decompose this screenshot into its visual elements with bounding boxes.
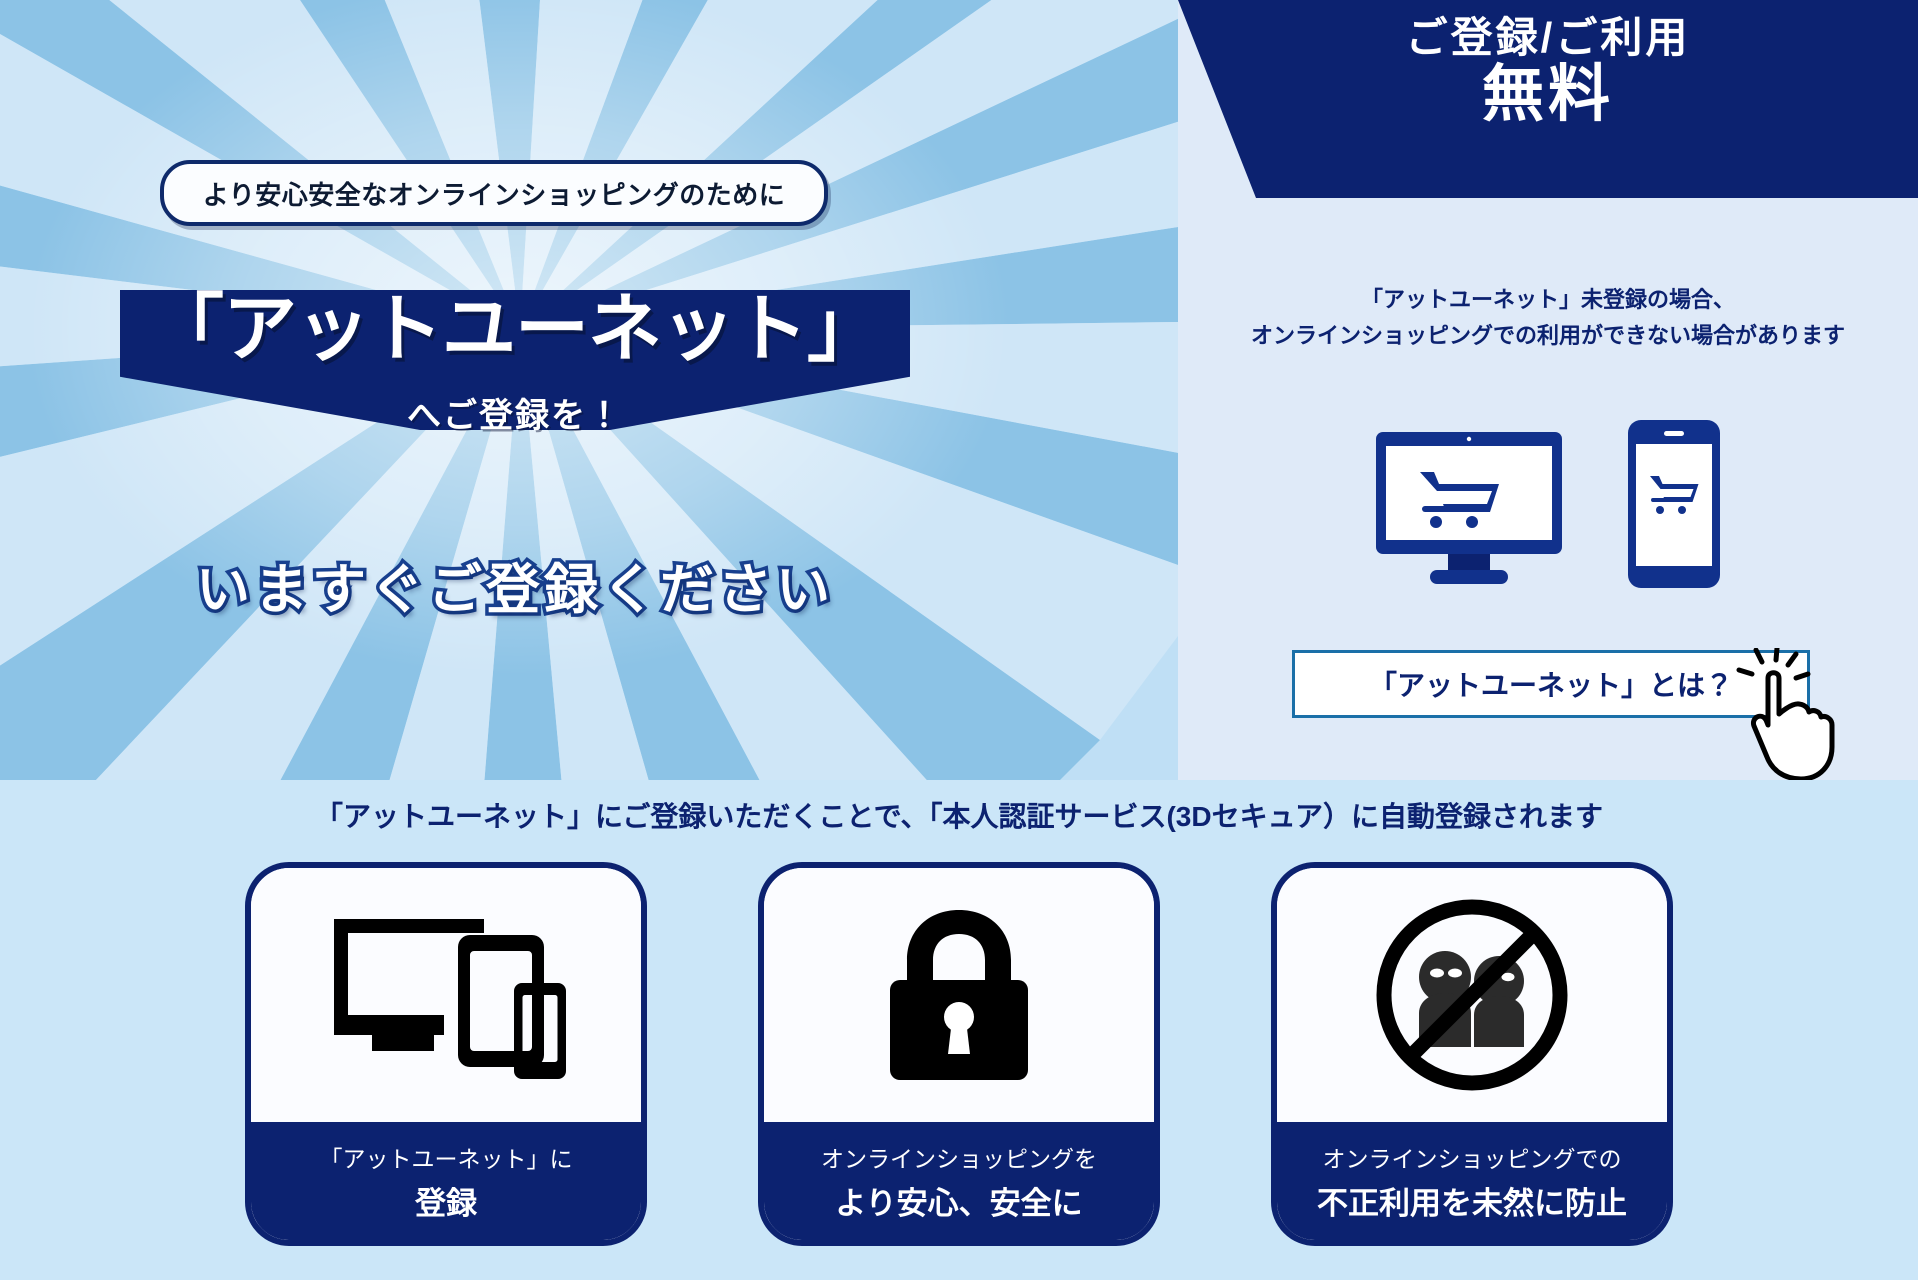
unregistered-note-line2: オンラインショッピングでの利用ができない場合があります: [1178, 318, 1918, 354]
what-is-atyounet-button[interactable]: 「アットユーネット」とは？: [1292, 650, 1810, 718]
cta-headline: いますぐご登録ください: [120, 545, 910, 624]
device-illustrations: [1178, 410, 1918, 590]
card-label-line1: オンラインショッピングを: [821, 1140, 1097, 1174]
card-footer: 「アットユーネット」に 登録: [251, 1122, 641, 1240]
card-label-line1: 「アットユーネット」に: [320, 1140, 573, 1174]
benefit-card-security: オンラインショッピングを より安心、安全に: [758, 862, 1160, 1246]
tagline-pill: より安心安全なオンラインショッピングのために: [160, 160, 828, 226]
unregistered-note-line1: 「アットユーネット」未登録の場合、: [1178, 282, 1918, 318]
card-footer: オンラインショッピングを より安心、安全に: [764, 1122, 1154, 1240]
smartphone-cart-icon: [1626, 418, 1722, 590]
card-icon-area: [764, 868, 1154, 1122]
padlock-icon: [864, 900, 1054, 1090]
lower-lead-text: 「アットユーネット」にご登録いただくことで、「本人認証サービス(3Dセキュア）に…: [0, 795, 1918, 835]
card-icon-area: [251, 868, 641, 1122]
benefit-cards: 「アットユーネット」に 登録 オンラインショッピングを より安心、安全に: [0, 862, 1918, 1262]
card-label-line1: オンラインショッピングでの: [1323, 1140, 1622, 1174]
cursor-hand-area: [1736, 648, 1856, 788]
pointing-hand-cursor-icon: [1736, 648, 1856, 788]
card-label-line2: 登録: [415, 1178, 477, 1223]
benefit-card-fraud: オンラインショッピングでの 不正利用を未然に防止: [1271, 862, 1673, 1246]
unregistered-note: 「アットユーネット」未登録の場合、 オンラインショッピングでの利用ができない場合…: [1178, 282, 1918, 355]
desktop-monitor-cart-icon: [1374, 430, 1564, 590]
tagline-text: より安心安全なオンラインショッピングのために: [203, 175, 785, 212]
page-title: 「アットユーネット」: [120, 288, 910, 371]
benefit-card-register: 「アットユーネット」に 登録: [245, 862, 647, 1246]
multi-device-icon: [326, 905, 566, 1085]
what-is-atyounet-label: 「アットユーネット」とは？: [1369, 664, 1733, 704]
card-icon-area: [1277, 868, 1667, 1122]
free-badge-wedge: [1178, 0, 1918, 198]
page-title-sub: へご登録を！: [120, 388, 910, 437]
card-footer: オンラインショッピングでの 不正利用を未然に防止: [1277, 1122, 1667, 1240]
no-fraud-prohibition-icon: [1367, 895, 1577, 1095]
card-label-line2: 不正利用を未然に防止: [1317, 1178, 1627, 1223]
card-label-line2: より安心、安全に: [835, 1178, 1082, 1223]
banner-root: より安心安全なオンラインショッピングのために 「アットユーネット」 へご登録を！…: [0, 0, 1918, 1280]
